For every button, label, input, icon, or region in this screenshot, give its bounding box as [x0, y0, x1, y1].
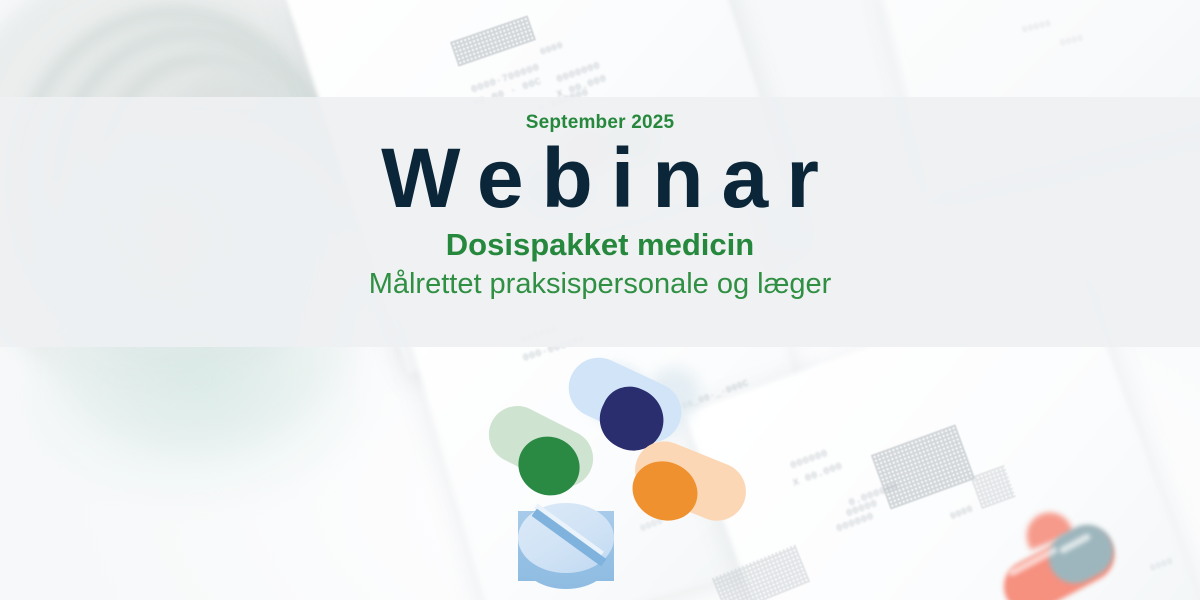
webinar-banner: 0000·700000 00 00 · 00C 0000000 X 00.000… — [0, 0, 1200, 600]
page-title: Webinar — [363, 136, 837, 222]
tablet-round-scored — [518, 503, 614, 595]
event-date: September 2025 — [526, 113, 675, 132]
event-topic: Dosispakket medicin — [446, 228, 754, 262]
target-audience: Målrettet praksispersonale og læger — [369, 268, 832, 301]
headline-text-block: September 2025 Webinar Dosispakket medic… — [0, 97, 1200, 347]
